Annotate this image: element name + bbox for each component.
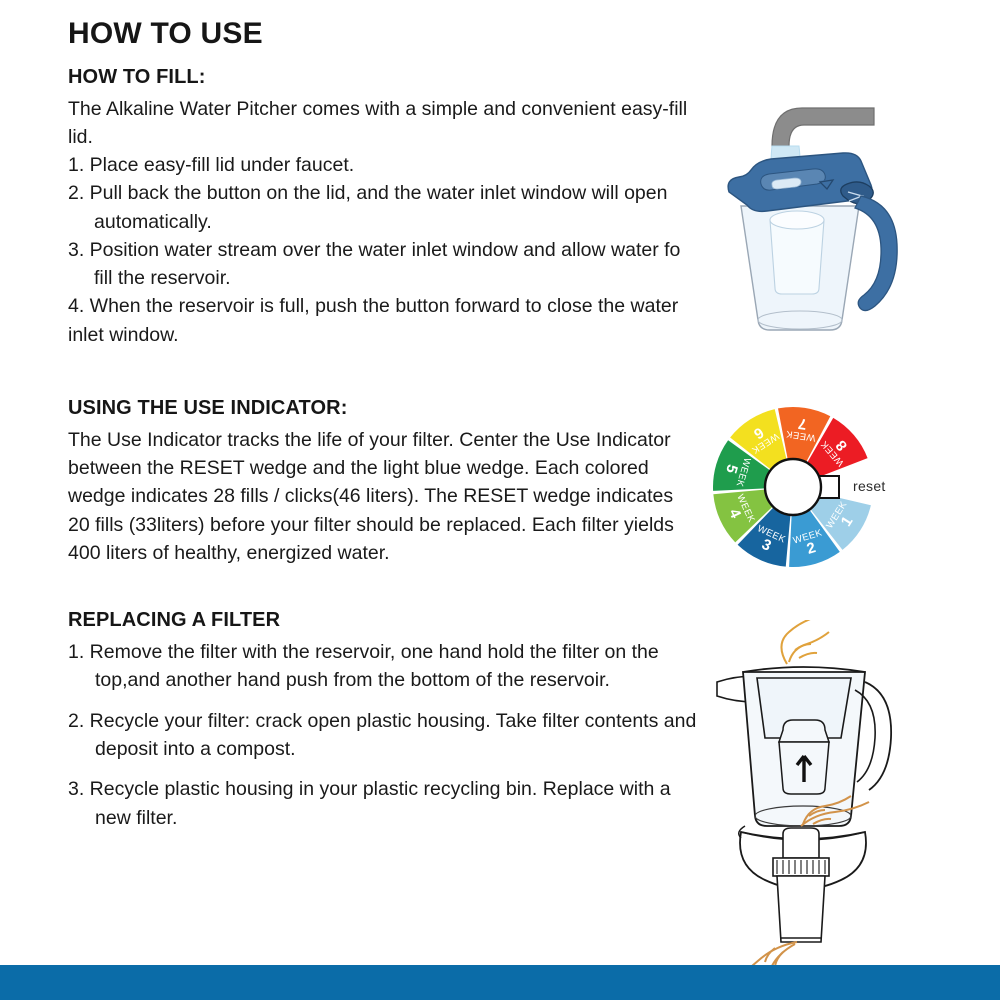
pitcher-handle (855, 196, 897, 311)
hand-lower-thumb (755, 944, 795, 965)
how-to-fill-heading: HOW TO FILL: (68, 66, 698, 89)
manual-page: HOW TO USE HOW TO FILL: The Alkaline Wat… (0, 0, 1000, 1000)
inner-reservoir (770, 220, 824, 294)
filter-replacement-illustration (705, 620, 995, 965)
list-item: 2. Pull back the button on the lid, and … (68, 179, 698, 236)
faucet-icon (772, 108, 874, 146)
section-use-indicator: USING THE USE INDICATOR: The Use Indicat… (68, 397, 698, 567)
filter-cartridge-top (779, 720, 829, 742)
use-indicator-heading: USING THE USE INDICATOR: (68, 397, 698, 420)
section-how-to-fill: HOW TO FILL: The Alkaline Water Pitcher … (68, 66, 698, 349)
list-item: 4. When the reservoir is full, push the … (68, 292, 698, 349)
page-title: HOW TO USE (68, 18, 698, 50)
section-replacing-filter: REPLACING A FILTER 1. Remove the filter … (68, 609, 698, 832)
cartridge-barrel (777, 876, 825, 942)
hand-top-fingers (795, 644, 817, 658)
pitcher-filter-removal-illustration (717, 620, 891, 826)
use-indicator-color-wheel: WEEK1WEEK2WEEK3WEEK4WEEK5WEEK6WEEK7WEEK8… (700, 390, 990, 595)
instructions-column: HOW TO USE HOW TO FILL: The Alkaline Wat… (68, 18, 698, 844)
list-item: 1. Remove the filter with the reservoir,… (68, 638, 698, 695)
reservoir-opening (770, 211, 824, 229)
color-wheel-svg[interactable]: WEEK1WEEK2WEEK3WEEK4WEEK5WEEK6WEEK7WEEK8 (700, 390, 990, 595)
hand-top-thumb (789, 632, 829, 662)
brand-bar (0, 965, 1000, 1000)
wheel-hub[interactable] (765, 459, 821, 515)
how-to-fill-steps: 1. Place easy-fill lid under faucet. 2. … (68, 151, 698, 349)
replacing-filter-heading: REPLACING A FILTER (68, 609, 698, 632)
how-to-fill-intro: The Alkaline Water Pitcher comes with a … (68, 95, 698, 152)
list-item: 3. Recycle plastic housing in your plast… (68, 775, 698, 832)
pitcher-under-faucet-illustration (715, 88, 985, 338)
list-item: 1. Place easy-fill lid under faucet. (68, 151, 698, 179)
list-item: 2. Recycle your filter: crack open plast… (68, 707, 698, 764)
pitcher-handle-outline (865, 682, 891, 790)
hand-lower-icon (737, 942, 797, 965)
list-item: 3. Position water stream over the water … (68, 236, 698, 293)
cartridge-cap (783, 828, 819, 858)
replacing-filter-steps: 1. Remove the filter with the reservoir,… (68, 638, 698, 832)
reset-label: reset (853, 478, 886, 494)
use-indicator-body: The Use Indicator tracks the life of you… (68, 426, 698, 567)
